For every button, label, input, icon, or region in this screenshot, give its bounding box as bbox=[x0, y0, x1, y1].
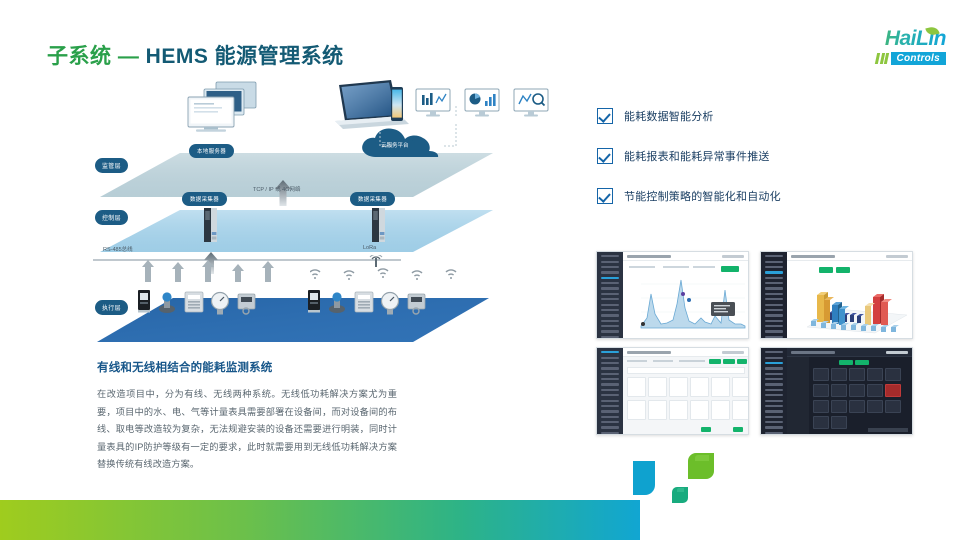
control-plane bbox=[75, 207, 495, 255]
thumb-pagination bbox=[868, 428, 908, 432]
thumb-card bbox=[732, 400, 749, 420]
check-icon bbox=[597, 148, 613, 164]
feature-checklist: 能耗数据智能分析 能耗报表和能耗异常事件推送 节能控制策略的智能化和自动化 bbox=[597, 108, 927, 228]
thumb-device-panel bbox=[849, 368, 865, 381]
bottom-gradient-bar bbox=[0, 500, 640, 540]
thumb-card bbox=[690, 400, 709, 420]
thumb-tab-b bbox=[653, 360, 673, 362]
thumb-topbar bbox=[623, 348, 748, 357]
wireless-label: LoRa bbox=[363, 245, 376, 251]
thumb-content bbox=[623, 357, 748, 434]
thumbnail-energy-3d-bar-dashboard[interactable] bbox=[760, 251, 913, 339]
thumb-card bbox=[627, 400, 646, 420]
thumb-filter-btn-2 bbox=[855, 360, 869, 365]
data-collector-right-icon bbox=[370, 208, 388, 249]
brand-logo: HaiLin Controls bbox=[828, 28, 946, 72]
thumb-card bbox=[690, 377, 709, 397]
thumb-device-panel bbox=[867, 368, 883, 381]
thumb-card bbox=[732, 377, 749, 397]
page-title-green: 子系统 bbox=[47, 45, 112, 68]
thumb-subnav bbox=[787, 357, 809, 434]
thumb-card bbox=[627, 377, 646, 397]
data-collector-left-icon bbox=[202, 208, 220, 249]
architecture-diagram: 监管层 本地服务器 bbox=[85, 82, 525, 347]
wired-uplink-arrows bbox=[140, 260, 290, 286]
thumb-action-pill bbox=[721, 266, 739, 272]
thumb-card bbox=[711, 377, 730, 397]
meter-devices-row bbox=[133, 286, 483, 322]
checklist-item-analysis[interactable]: 能耗数据智能分析 bbox=[597, 108, 927, 124]
thumb-tab-a bbox=[627, 360, 647, 362]
thumb-search-row bbox=[627, 367, 745, 374]
caption-title: 有线和无线相结合的能耗监测系统 bbox=[97, 359, 273, 375]
thumb-device-panel bbox=[813, 400, 829, 413]
thumb-device-panel bbox=[831, 368, 847, 381]
node-tag-local-server: 本地服务器 bbox=[189, 144, 234, 158]
thumb-pager-next bbox=[733, 427, 743, 432]
thumb-filter-c bbox=[693, 266, 715, 268]
thumb-tab-pill-2 bbox=[836, 267, 850, 273]
thumb-filter-b bbox=[663, 266, 689, 268]
thumb-device-panel-alarm bbox=[885, 384, 901, 397]
page-title-dash: — bbox=[112, 45, 146, 68]
thumb-topbar bbox=[623, 252, 748, 261]
thumbnail-device-card-list[interactable] bbox=[596, 347, 749, 435]
thumbnail-energy-trend-dashboard[interactable] bbox=[596, 251, 749, 339]
node-tag-collector-right: 数据采集器 bbox=[350, 192, 395, 206]
thumb-device-panel bbox=[885, 368, 901, 381]
thumb-3d-bar-chart bbox=[789, 275, 913, 337]
bus-label: RS-485总线 bbox=[103, 245, 133, 253]
thumb-content bbox=[787, 261, 912, 338]
thumb-device-panel bbox=[867, 384, 883, 397]
thumb-device-panel bbox=[849, 400, 865, 413]
thumb-btn-1 bbox=[709, 359, 721, 364]
layer-tag-execute: 执行层 bbox=[95, 300, 128, 315]
dashboard-screenshots bbox=[596, 251, 916, 436]
thumb-card bbox=[711, 400, 730, 420]
uplink-label: TCP / IP 或 4G网络 bbox=[253, 185, 300, 193]
thumb-content bbox=[623, 261, 748, 338]
thumb-topbar bbox=[787, 348, 912, 357]
page-title: 子系统 — HEMS 能源管理系统 bbox=[47, 40, 344, 70]
thumb-card bbox=[648, 377, 667, 397]
thumb-device-panel bbox=[867, 400, 883, 413]
thumb-card bbox=[669, 377, 688, 397]
wireless-uplink-icons bbox=[310, 264, 470, 284]
checklist-item-label: 节能控制策略的智能化和自动化 bbox=[624, 188, 781, 204]
thumbnail-device-status-grid[interactable] bbox=[760, 347, 913, 435]
thumb-content bbox=[787, 357, 912, 434]
bars-icon bbox=[876, 53, 888, 64]
thumb-pager-prev bbox=[701, 427, 711, 432]
thumb-device-panel bbox=[849, 384, 865, 397]
logo-sub: Controls bbox=[828, 52, 946, 65]
thumb-sidebar bbox=[597, 348, 623, 434]
thumb-filter-btn-1 bbox=[839, 360, 853, 365]
cloud-dashed-links bbox=[340, 102, 520, 152]
check-icon bbox=[597, 188, 613, 204]
thumb-line-chart bbox=[627, 274, 747, 332]
checklist-item-label: 能耗报表和能耗异常事件推送 bbox=[624, 148, 770, 164]
local-server-monitors-icon bbox=[182, 80, 272, 145]
layer-tag-control: 控制层 bbox=[95, 210, 128, 225]
thumb-device-panel bbox=[831, 416, 847, 429]
thumb-device-panel bbox=[813, 416, 829, 429]
thumb-filter-a bbox=[629, 266, 655, 268]
check-icon bbox=[597, 108, 613, 124]
thumb-device-panel bbox=[813, 368, 829, 381]
logo-tagline: Controls bbox=[891, 52, 946, 65]
thumb-sidebar bbox=[761, 348, 787, 434]
thumb-card bbox=[669, 400, 688, 420]
thumb-btn-3 bbox=[737, 359, 747, 364]
leaf-deco-green-large bbox=[688, 453, 714, 484]
thumb-device-panel bbox=[885, 400, 901, 413]
caption-body: 在改造项目中，分为有线、无线两种系统。无线低功耗解决方案尤为重要，项目中的水、电… bbox=[97, 386, 397, 474]
thumb-tab-c bbox=[679, 360, 705, 362]
thumb-tab-pill-1 bbox=[819, 267, 833, 273]
checklist-item-label: 能耗数据智能分析 bbox=[624, 108, 714, 124]
thumb-card bbox=[648, 400, 667, 420]
thumb-device-panel bbox=[831, 400, 847, 413]
leaf-deco-blue bbox=[633, 461, 655, 500]
thumb-device-panel bbox=[813, 384, 829, 397]
checklist-item-report[interactable]: 能耗报表和能耗异常事件推送 bbox=[597, 148, 927, 164]
leaf-deco-teal-small bbox=[672, 487, 688, 508]
checklist-item-strategy[interactable]: 节能控制策略的智能化和自动化 bbox=[597, 188, 927, 204]
thumb-btn-2 bbox=[723, 359, 735, 364]
node-tag-collector-left: 数据采集器 bbox=[182, 192, 227, 206]
thumb-sidebar bbox=[761, 252, 787, 338]
thumb-device-panel bbox=[831, 384, 847, 397]
page-title-blue: HEMS 能源管理系统 bbox=[146, 45, 344, 68]
layer-tag-monitor: 监管层 bbox=[95, 158, 128, 173]
slide: 子系统 — HEMS 能源管理系统 HaiLin Controls 监管层 bbox=[0, 0, 960, 540]
thumb-sidebar bbox=[597, 252, 623, 338]
thumb-topbar bbox=[787, 252, 912, 261]
